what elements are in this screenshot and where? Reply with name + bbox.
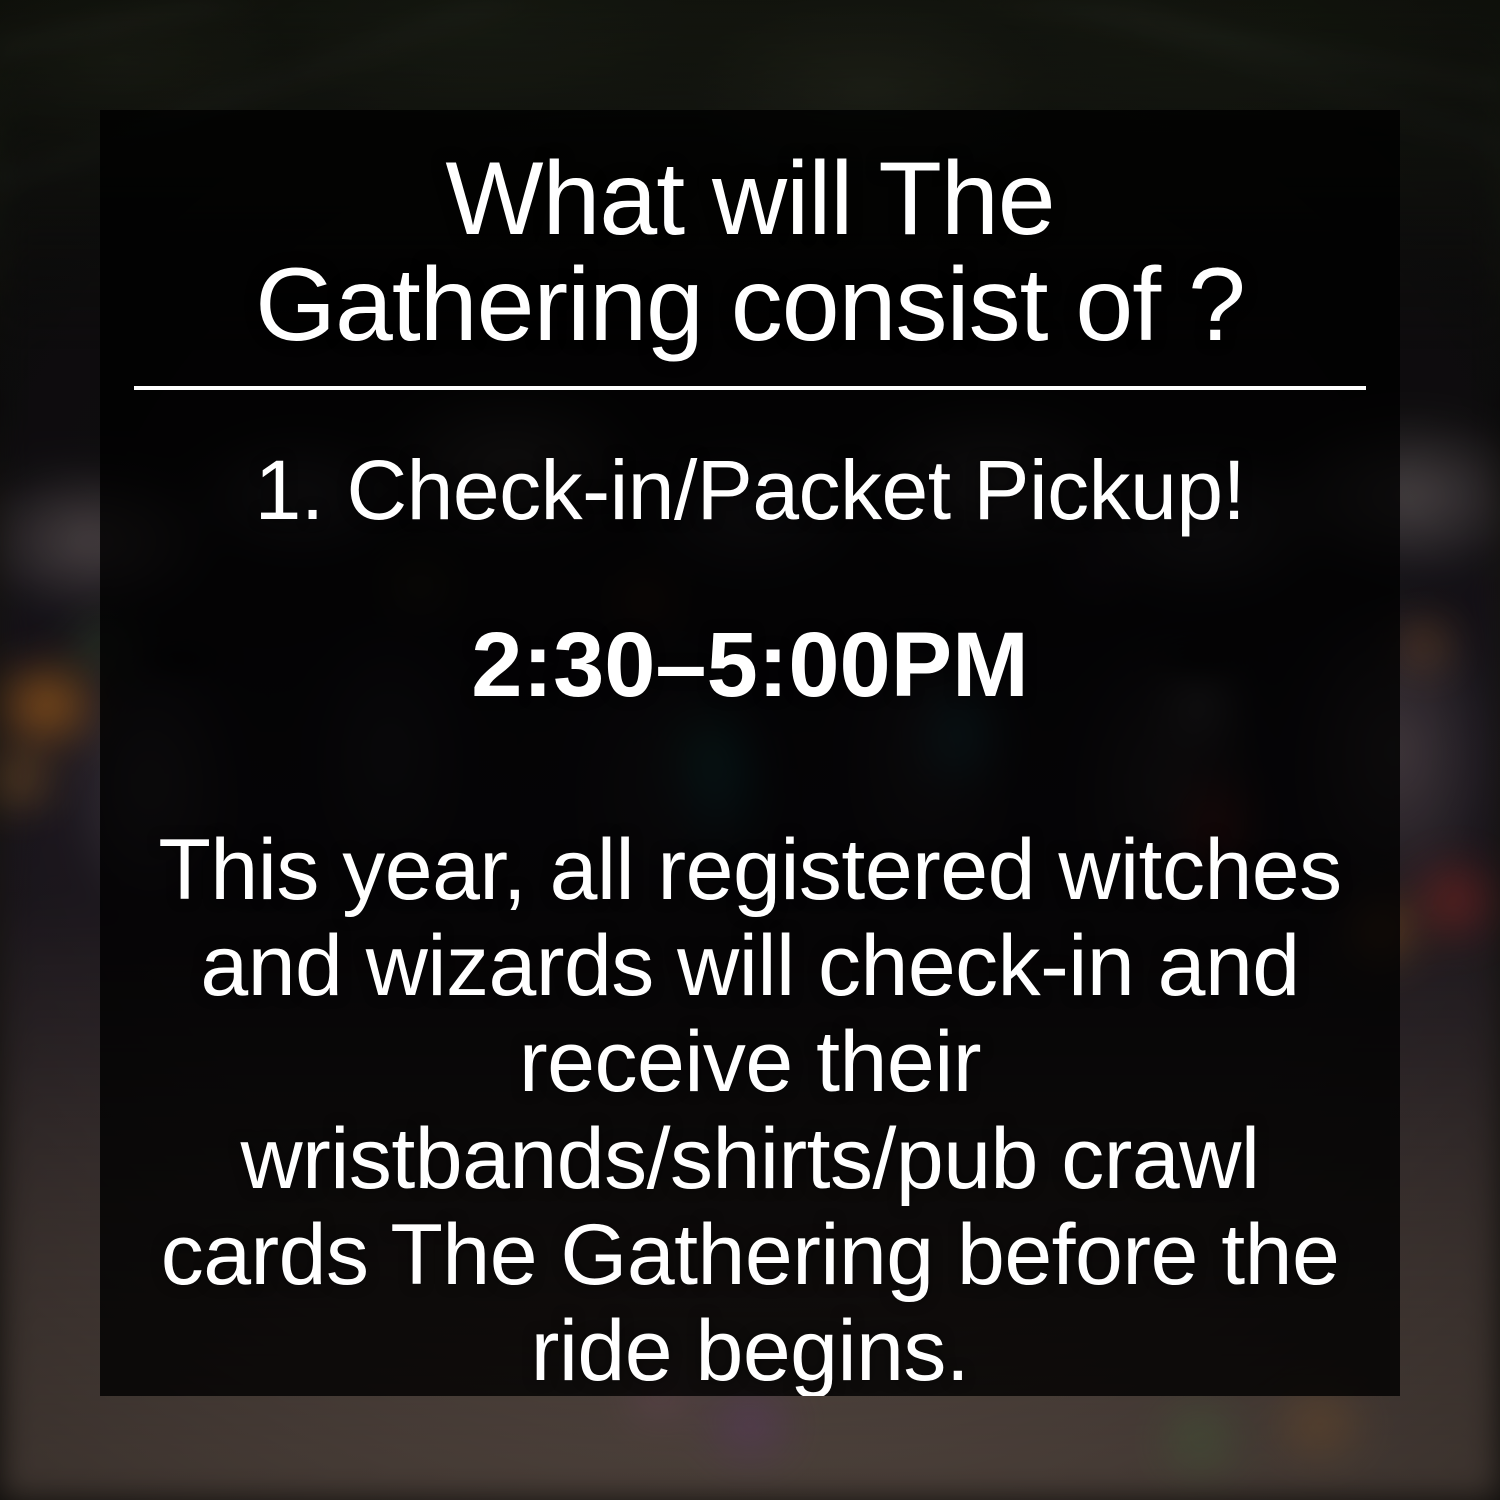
page-title: What will The Gathering consist of ?	[134, 146, 1366, 358]
agenda-item-heading: 1. Check-in/Packet Pickup!	[134, 446, 1366, 535]
poster-canvas: What will The Gathering consist of ? 1. …	[0, 0, 1500, 1500]
content-panel: What will The Gathering consist of ? 1. …	[100, 110, 1400, 1396]
event-description: This year, all registered witches and wi…	[134, 822, 1366, 1396]
event-time: 2:30–5:00PM	[134, 617, 1366, 714]
title-divider	[134, 386, 1366, 390]
